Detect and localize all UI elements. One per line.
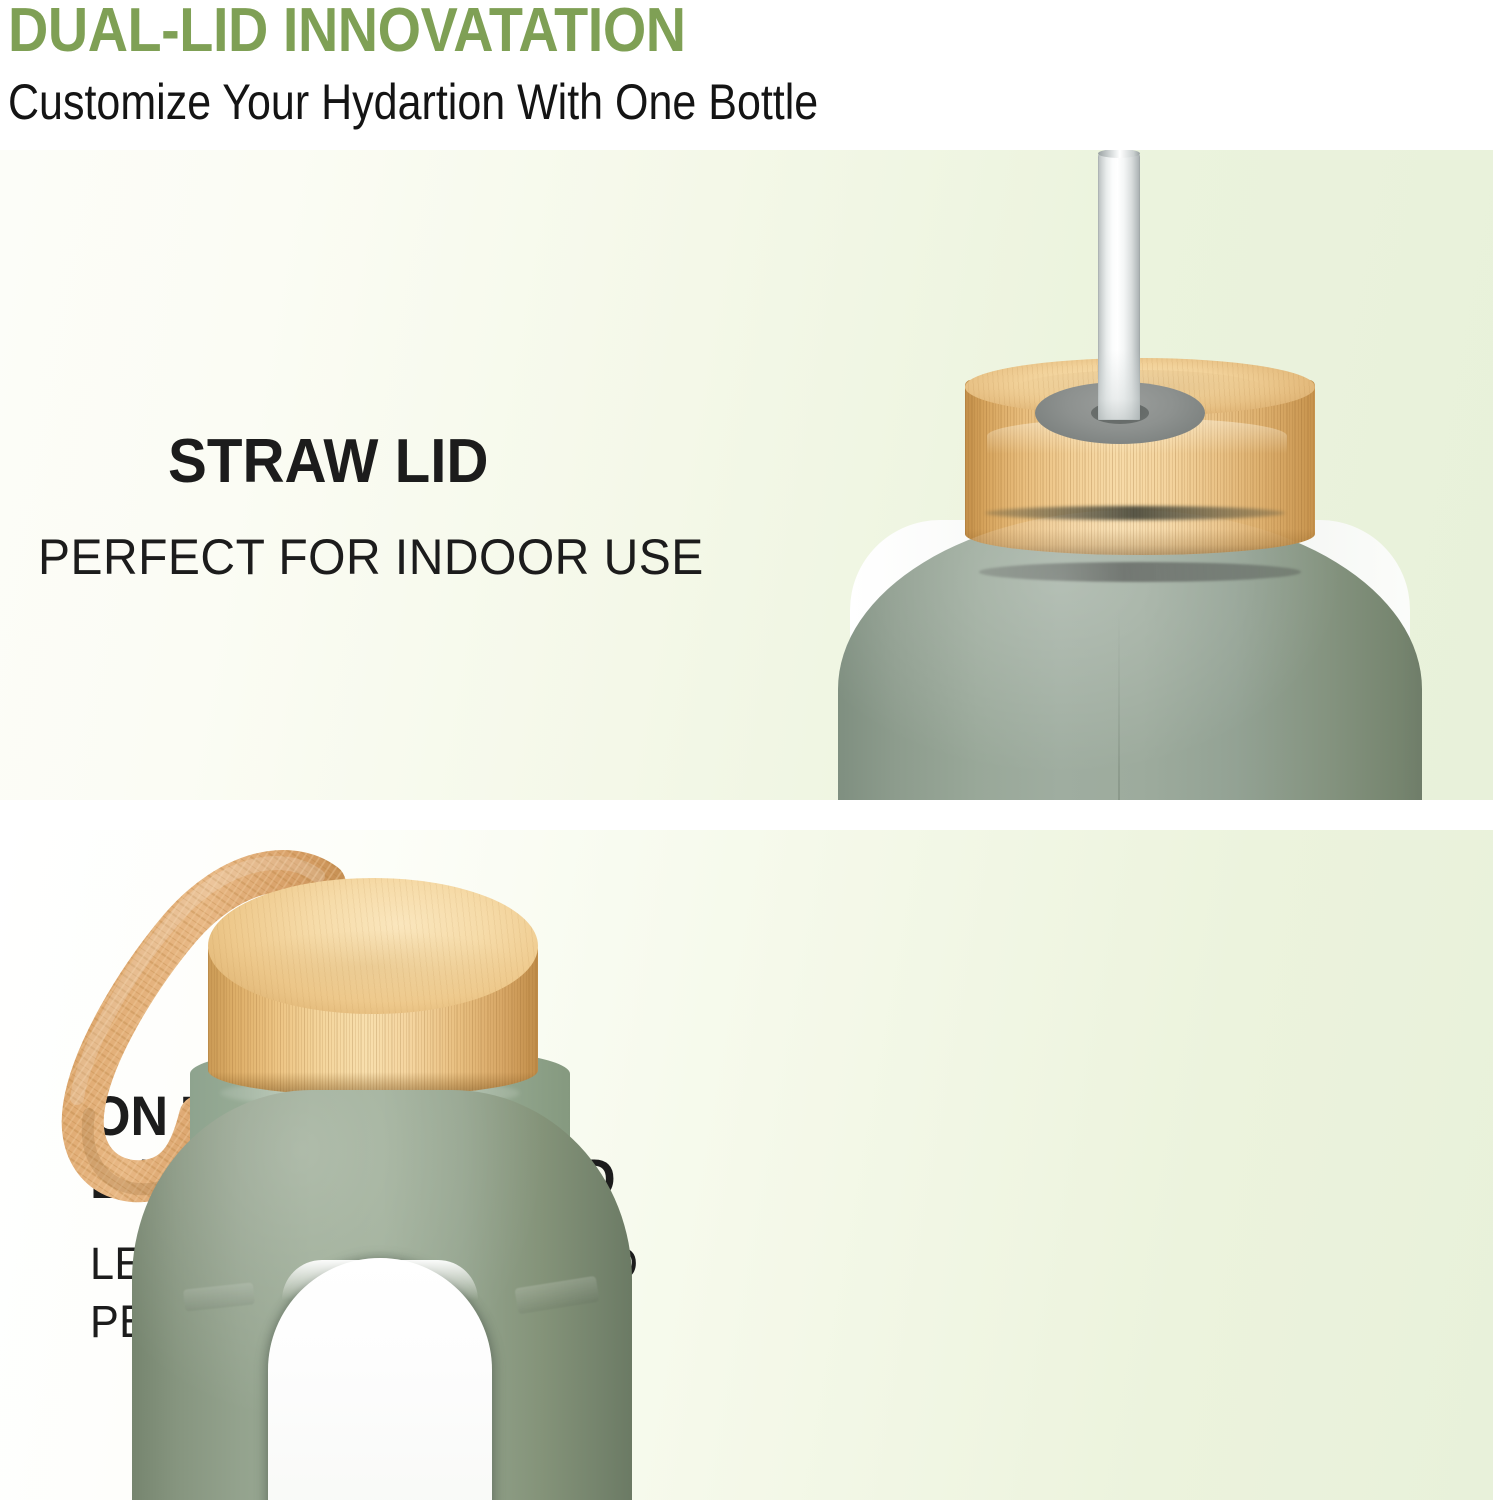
straw-lid-title: STRAW LID xyxy=(168,426,489,497)
header: DUAL-LID INNOVATATION Customize Your Hyd… xyxy=(0,0,1493,150)
metal-straw xyxy=(1098,152,1140,420)
silicone-sleeve xyxy=(132,1090,632,1500)
page-title: DUAL-LID INNOVATATION xyxy=(8,0,686,63)
panel-bamboo-strap-lid: ON THE GO BAMBOO STRAP LID LEAKPROOF DES… xyxy=(0,830,1493,1500)
product-image-strap-bottle xyxy=(40,830,660,1500)
panel-straw-lid: STRAW LID PERFECT FOR INDOOR USE xyxy=(0,150,1493,800)
sleeve-cutout-highlight xyxy=(282,1260,478,1300)
infographic-page: DUAL-LID INNOVATATION Customize Your Hyd… xyxy=(0,0,1493,1500)
product-image-straw-bottle xyxy=(820,150,1440,800)
panel-divider xyxy=(0,800,1493,830)
sleeve-lid-seam xyxy=(985,506,1285,520)
page-subtitle: Customize Your Hydartion With One Bottle xyxy=(8,76,818,129)
straw-lid-subtitle: PERFECT FOR INDOOR USE xyxy=(38,528,704,586)
lid-base-ring xyxy=(979,562,1301,582)
lid-top-edge xyxy=(224,930,522,1002)
